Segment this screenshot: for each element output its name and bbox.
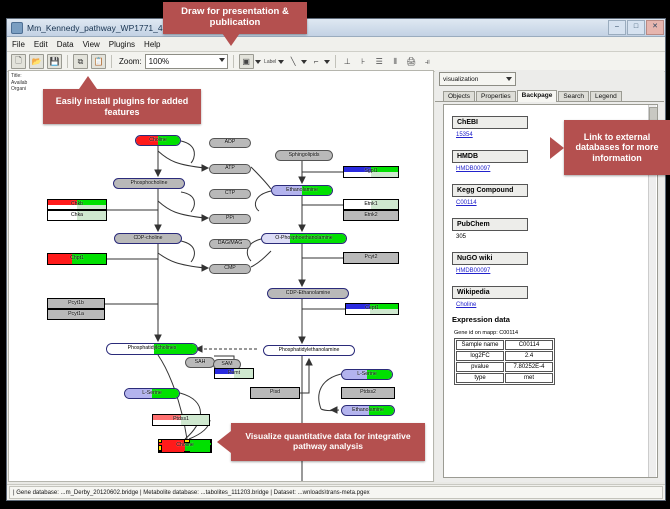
backpage-value-nugo-wiki[interactable]: HMDB00097 xyxy=(456,268,657,274)
pathway-edges xyxy=(9,71,433,482)
pathvisio-window: Mm_Kennedy_pathway_WP1771_45176.gpml – □… xyxy=(6,18,666,501)
gene-node-etnk2[interactable]: Etnk2 xyxy=(343,210,399,221)
metabolite-node-dagmag[interactable]: DAG/MAG xyxy=(209,239,251,249)
visualization-row: visualization xyxy=(435,70,664,88)
node-label: ADP xyxy=(225,140,236,145)
callout-links-arrow xyxy=(550,137,564,159)
node-label: CDP-choline xyxy=(133,236,162,241)
metabolite-node-atp[interactable]: ATP xyxy=(209,164,251,174)
metabolite-node-ptdcholine[interactable]: Phosphatidylcholines xyxy=(106,343,198,355)
metabolite-node-ethanolamine_bottom[interactable]: Ethanolamine xyxy=(341,405,395,416)
callout-visualize-text: Visualize quantitative data for integrat… xyxy=(235,432,421,452)
toolbar-separator xyxy=(111,55,112,68)
table-cell-key: Sample name xyxy=(456,340,504,350)
screenshot-root: Mm_Kennedy_pathway_WP1771_45176.gpml – □… xyxy=(0,0,670,509)
gene-node-pcyt1a[interactable]: Pcyt1a xyxy=(47,309,105,320)
menu-edit[interactable]: Edit xyxy=(34,40,48,49)
gene-id-line: Gene id on mapp: C00114 xyxy=(454,330,657,336)
metabolite-node-cdpethanolamine[interactable]: CDP-Ethanolamine xyxy=(267,288,349,299)
metabolite-node-lserine_left[interactable]: L-Serine xyxy=(124,388,180,399)
node-fill-left xyxy=(48,254,72,264)
callout-draw-text: Draw for presentation & publication xyxy=(167,7,303,29)
anchor-tool[interactable]: ⌐ xyxy=(310,55,330,68)
selection-handle[interactable] xyxy=(158,451,162,453)
tab-search[interactable]: Search xyxy=(558,91,589,101)
node-label: Choline xyxy=(149,138,167,143)
statusbar-text: | Gene database: ...m_Derby_20120602.bri… xyxy=(9,486,663,499)
node-label: L-Serine xyxy=(357,372,377,377)
selection-handle[interactable] xyxy=(184,439,190,443)
print-tool[interactable]: 🖨 xyxy=(405,55,418,68)
metabolite-node-sphingolipids[interactable]: Sphingolipids xyxy=(275,150,333,161)
menu-data[interactable]: Data xyxy=(57,40,74,49)
table-row: log2FC2.4 xyxy=(456,351,553,361)
datanode-tool[interactable]: ▣ xyxy=(239,54,261,69)
copy-icon[interactable]: ⧉ xyxy=(73,54,88,69)
gene-node-chkb[interactable]: Chkb xyxy=(47,199,107,210)
zoom-value: 100% xyxy=(149,57,169,66)
callout-visualize: Visualize quantitative data for integrat… xyxy=(231,423,425,461)
table-row: Sample nameC00114 xyxy=(456,340,553,350)
visualization-select[interactable]: visualization xyxy=(439,72,516,86)
menu-help[interactable]: Help xyxy=(144,40,160,49)
label-tool[interactable]: Label xyxy=(264,55,284,68)
expression-data-title: Expression data xyxy=(452,315,657,324)
node-label: Ptdss2 xyxy=(360,390,376,395)
metabolite-node-ppi[interactable]: PPi xyxy=(209,214,251,224)
chevron-down-icon xyxy=(219,58,225,62)
backpage-header-kegg-compound: Kegg Compound xyxy=(452,184,528,197)
node-label: Chpt1 xyxy=(70,256,84,261)
gene-node-cept1[interactable]: Cept1 xyxy=(345,303,399,315)
menu-view[interactable]: View xyxy=(83,40,100,49)
backpage-header-chebi: ChEBI xyxy=(452,116,528,129)
node-label: Cept1 xyxy=(365,306,379,311)
metabolite-node-ophosphoethanolamine[interactable]: O-Phosphoethanolamine xyxy=(261,233,347,244)
metabolite-node-cmp[interactable]: CMP xyxy=(209,264,251,274)
tab-objects[interactable]: Objects xyxy=(443,91,475,101)
node-label: Phosphocholine xyxy=(131,181,168,186)
node-label: Etnk2 xyxy=(364,213,377,218)
node-label: Ethanolamine xyxy=(286,188,318,193)
gene-node-pcyt1b[interactable]: Pcyt1b xyxy=(47,298,105,309)
toolbar-separator xyxy=(233,55,234,68)
app-icon xyxy=(11,22,23,34)
metabolite-node-phosphocholine[interactable]: Phosphocholine xyxy=(113,178,185,189)
gene-node-etnk1[interactable]: Etnk1 xyxy=(343,199,399,210)
tab-properties[interactable]: Properties xyxy=(476,91,516,101)
gene-node-pisd[interactable]: Pisd xyxy=(250,387,300,399)
node-label: SAM xyxy=(221,362,232,367)
new-file-icon[interactable]: 🗋 xyxy=(11,54,26,69)
metabolite-node-choline_bottom[interactable]: Choline xyxy=(158,439,212,453)
table-cell-key: pvalue xyxy=(456,362,504,372)
gene-node-pemt[interactable]: Pemt xyxy=(214,368,254,379)
backpage-header-pubchem: PubChem xyxy=(452,218,528,231)
pathway-canvas[interactable]: Title: Availab Organi xyxy=(8,70,434,482)
toolbar-separator xyxy=(335,55,336,68)
zoom-label: Zoom: xyxy=(119,57,142,66)
metabolite-node-ctp[interactable]: CTP xyxy=(209,189,251,199)
gene-node-chka[interactable]: Chka xyxy=(47,210,107,221)
align-tool[interactable]: ⊥ xyxy=(341,55,354,68)
table-cell-value: C00114 xyxy=(505,340,553,350)
table-cell-value: met xyxy=(505,373,553,383)
node-label: CTP xyxy=(225,191,235,196)
table-row: pvalue7.80252E-4 xyxy=(456,362,553,372)
backpage-header-hmdb: HMDB xyxy=(452,150,528,163)
statusbar: | Gene database: ...m_Derby_20120602.bri… xyxy=(7,484,665,500)
node-label: Sgpl1 xyxy=(364,169,377,174)
node-label: Phosphatidylethanolamine xyxy=(279,348,340,353)
chevron-down-icon xyxy=(506,77,512,81)
stack-tool[interactable]: ☰ xyxy=(373,55,386,68)
node-label: Etnk1 xyxy=(364,202,377,207)
node-label: CMP xyxy=(224,266,236,271)
node-label: CDP-Ethanolamine xyxy=(286,291,330,296)
open-folder-icon[interactable]: 📂 xyxy=(29,54,44,69)
expression-table: Sample nameC00114log2FC2.4pvalue7.80252E… xyxy=(454,338,555,385)
node-label: DAG/MAG xyxy=(218,241,243,246)
distribute-tool[interactable]: ⦀ xyxy=(389,55,402,68)
metabolite-node-sah[interactable]: SAH xyxy=(185,357,215,368)
node-label: Sphingolipids xyxy=(289,153,320,158)
table-cell-value: 2.4 xyxy=(505,351,553,361)
metabolite-node-cdpcholine[interactable]: CDP-choline xyxy=(114,233,182,244)
callout-links-text: Link to external databases for more info… xyxy=(567,132,667,163)
gene-node-ptdss2[interactable]: Ptdss2 xyxy=(341,387,395,399)
line-tool[interactable]: ╲ xyxy=(287,55,307,68)
menu-plugins[interactable]: Plugins xyxy=(109,40,135,49)
selection-handle[interactable] xyxy=(210,451,212,453)
gene-node-ptdss1[interactable]: Ptdss1 xyxy=(152,414,210,426)
maximize-button[interactable]: □ xyxy=(627,20,645,35)
menubar: File Edit Data View Plugins Help xyxy=(7,37,665,52)
table-cell-value: 7.80252E-4 xyxy=(505,362,553,372)
menu-file[interactable]: File xyxy=(12,40,25,49)
node-label: ATP xyxy=(225,166,235,171)
backpage-value-pubchem: 305 xyxy=(456,234,657,240)
table-row: typemet xyxy=(456,373,553,383)
minimize-button[interactable]: – xyxy=(608,20,626,35)
table-cell-key: type xyxy=(456,373,504,383)
node-label: Chkb xyxy=(71,202,83,207)
node-label: Phosphatidylcholines xyxy=(128,346,177,351)
callout-draw-arrow xyxy=(222,33,240,46)
group-tool[interactable]: ⊦ xyxy=(357,55,370,68)
backpage-header-wikipedia: Wikipedia xyxy=(452,286,528,299)
save-icon[interactable]: 💾 xyxy=(47,54,62,69)
node-label: Chka xyxy=(71,213,83,218)
node-label: Choline xyxy=(176,443,194,448)
visualization-value: visualization xyxy=(443,76,478,83)
node-label: Pcyt1b xyxy=(68,301,84,306)
metabolite-node-lserine_right[interactable]: L-Serine xyxy=(341,369,393,380)
gene-node-chpt1[interactable]: Chpt1 xyxy=(47,253,107,265)
node-label: Ptdss1 xyxy=(173,417,189,422)
callout-draw: Draw for presentation & publication xyxy=(163,2,307,34)
callout-plugins-arrow xyxy=(79,76,97,89)
node-label: L-Serine xyxy=(142,391,162,396)
node-label: O-Phosphoethanolamine xyxy=(275,236,332,241)
backpage-header-nugo-wiki: NuGO wiki xyxy=(452,252,528,265)
window-controls: – □ ✕ xyxy=(608,20,665,35)
metabolite-node-choline_top[interactable]: Choline xyxy=(135,135,181,146)
close-button[interactable]: ✕ xyxy=(646,20,664,35)
node-label: Pcyt2 xyxy=(365,255,378,260)
node-label: Pcyt1a xyxy=(68,312,84,317)
zoom-combobox[interactable]: 100% xyxy=(145,54,228,69)
selection-handle[interactable] xyxy=(158,439,162,443)
backpage-value-wikipedia[interactable]: Choline xyxy=(456,302,657,308)
paste-icon[interactable]: 📋 xyxy=(91,54,106,69)
backpage-value-kegg-compound[interactable]: C00114 xyxy=(456,200,657,206)
window-titlebar: Mm_Kennedy_pathway_WP1771_45176.gpml – □… xyxy=(7,19,665,37)
table-cell-key: log2FC xyxy=(456,351,504,361)
gene-node-sgpl1[interactable]: Sgpl1 xyxy=(343,166,399,178)
metabolite-node-ptdethanolamine[interactable]: Phosphatidylethanolamine xyxy=(263,345,355,356)
callout-visualize-arrow xyxy=(217,431,231,453)
selection-handle[interactable] xyxy=(210,439,212,443)
tab-backpage[interactable]: Backpage xyxy=(517,90,558,102)
node-label: Pisd xyxy=(270,390,280,395)
callout-links: Link to external databases for more info… xyxy=(564,120,670,175)
toolbar-separator xyxy=(67,55,68,68)
order-tool[interactable]: ⫣ xyxy=(421,55,434,68)
selection-handle[interactable] xyxy=(184,451,190,453)
side-tabs: Objects Properties Backpage Search Legen… xyxy=(435,88,664,102)
node-label: PPi xyxy=(226,216,234,221)
tab-legend[interactable]: Legend xyxy=(590,91,622,101)
callout-plugins: Easily install plugins for added feature… xyxy=(43,89,201,124)
gene-node-pcyt2[interactable]: Pcyt2 xyxy=(343,252,399,264)
node-label: Ethanolamine xyxy=(352,408,384,413)
metabolite-node-ethanolamine_top[interactable]: Ethanolamine xyxy=(271,185,333,196)
node-label: Pemt xyxy=(228,371,240,376)
callout-plugins-text: Easily install plugins for added feature… xyxy=(47,96,197,117)
node-label: SAH xyxy=(195,360,206,365)
metabolite-node-adp[interactable]: ADP xyxy=(209,138,251,148)
